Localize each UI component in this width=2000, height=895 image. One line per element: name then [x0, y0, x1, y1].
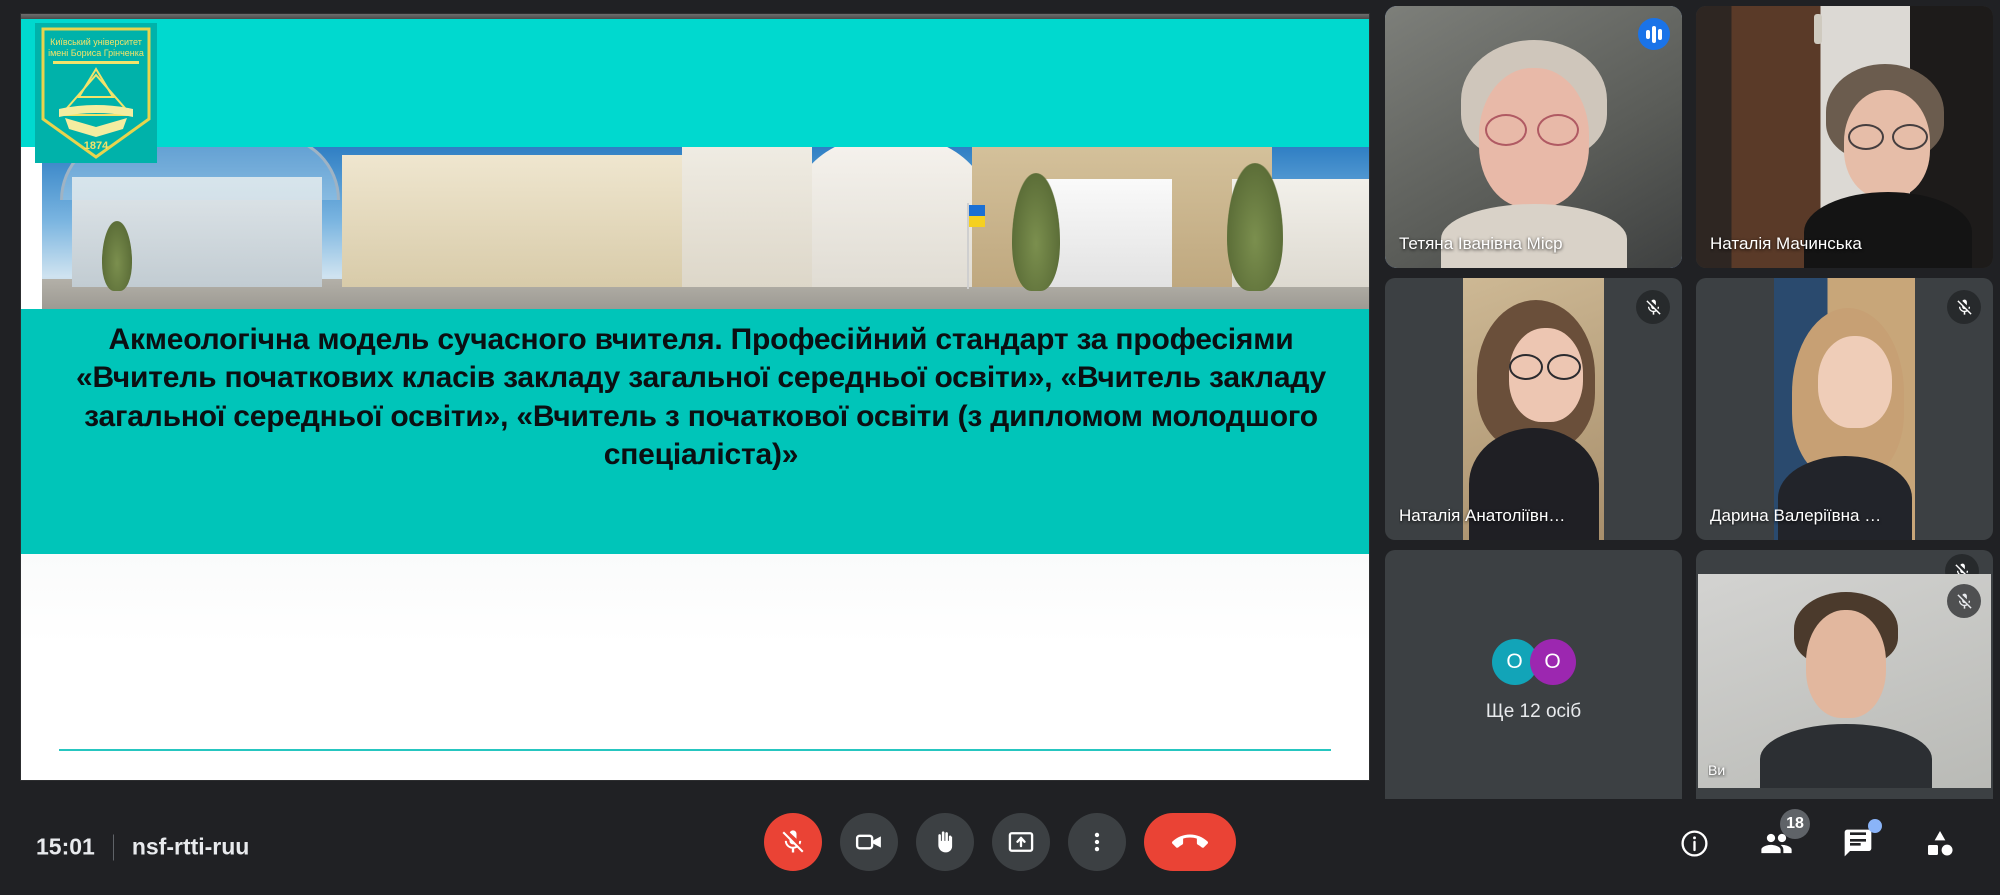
participant-name: Наталія Мачинська [1710, 234, 1949, 254]
hand-icon [931, 828, 959, 856]
mic-off-icon [1636, 290, 1670, 324]
meeting-code: nsf-rtti-ruu [132, 834, 250, 861]
tree [102, 221, 132, 291]
participant-tile-0[interactable]: Тетяна Іванівна Міср [1385, 6, 1682, 268]
crest-icon: Київський університет імені Бориса Грінч… [35, 23, 157, 163]
slide-divider-rule [59, 749, 1331, 751]
meet-app-window: Київський університет імені Бориса Грінч… [0, 0, 2000, 895]
secondary-controls: 18 [1674, 823, 1960, 863]
bottom-control-bar: 15:01 nsf-rtti-ruu [0, 799, 2000, 895]
present-screen-button[interactable] [992, 813, 1050, 871]
slide-title: Акмеологічна модель сучасного вчителя. П… [66, 321, 1336, 475]
video-feed [1463, 278, 1604, 540]
leave-call-button[interactable] [1144, 813, 1236, 871]
avatar: О [1530, 639, 1576, 685]
university-logo: Київський університет імені Бориса Грінч… [35, 23, 157, 163]
video-feed [1385, 6, 1682, 268]
separator [113, 834, 114, 860]
video-feed [1696, 6, 1993, 268]
self-video-feed: Ви [1698, 574, 1991, 788]
more-options-button[interactable] [1068, 813, 1126, 871]
self-view-wrapper: Ви [1696, 550, 1993, 812]
activities-button[interactable] [1920, 823, 1960, 863]
chat-icon [1842, 827, 1874, 859]
crest-line2: імені Бориса Грінченка [48, 48, 144, 58]
clock-time: 15:01 [36, 834, 95, 861]
building-main [342, 155, 702, 287]
more-vertical-icon [1084, 829, 1110, 855]
participant-grid: Тетяна Іванівна Міср Наталія Мачинська [1385, 6, 1993, 791]
chat-notification-dot [1868, 819, 1882, 833]
info-icon [1679, 828, 1710, 859]
activities-icon [1924, 827, 1956, 859]
present-screen-icon [1007, 828, 1035, 856]
hangup-icon [1172, 824, 1208, 860]
show-people-button[interactable]: 18 [1756, 823, 1796, 863]
participant-name: Дарина Валеріївна … [1710, 506, 1949, 526]
meeting-info: 15:01 nsf-rtti-ruu [36, 834, 249, 861]
crest-line1: Київський університет [50, 37, 142, 47]
mic-off-icon [1947, 290, 1981, 324]
participant-name: Наталія Анатоліївн… [1399, 506, 1638, 526]
building-rotunda [786, 147, 996, 287]
campus-photo-banner [42, 147, 1369, 309]
building-portico [1042, 179, 1172, 287]
slide-header-band [21, 19, 1369, 147]
participant-name: Тетяна Іванівна Міср [1399, 234, 1638, 254]
slide-body-area [21, 554, 1369, 780]
meeting-details-button[interactable] [1674, 823, 1714, 863]
presentation-stage[interactable]: Київський університет імені Бориса Грінч… [0, 0, 1370, 800]
self-view-tile[interactable]: Ви [1696, 550, 1993, 812]
chat-button[interactable] [1838, 823, 1878, 863]
video-feed [1774, 278, 1915, 540]
call-controls [764, 813, 1236, 871]
more-participants-tile[interactable]: О О Ще 12 осіб [1385, 550, 1682, 812]
camera-toggle-button[interactable] [840, 813, 898, 871]
tree [1012, 173, 1060, 291]
slide-content: Київський університет імені Бориса Грінч… [21, 19, 1369, 780]
raise-hand-button[interactable] [916, 813, 974, 871]
mic-off-icon [1947, 584, 1981, 618]
shared-screen-window[interactable]: Київський університет імені Бориса Грінч… [21, 14, 1369, 780]
participant-tile-2[interactable]: Наталія Анатоліївн… [1385, 278, 1682, 540]
participant-name: Ви [1708, 762, 1947, 778]
avatar-group: О О [1492, 639, 1576, 685]
mic-off-icon [779, 828, 807, 856]
participant-tile-3[interactable]: Дарина Валеріївна … [1696, 278, 1993, 540]
crest-year: 1874 [84, 140, 109, 152]
tree [1227, 163, 1283, 291]
building-tower [682, 147, 812, 287]
ukraine-flag [969, 205, 985, 227]
participant-tile-1[interactable]: Наталія Мачинська [1696, 6, 1993, 268]
camera-icon [854, 827, 884, 857]
participant-count-badge: 18 [1780, 809, 1810, 839]
microphone-toggle-button[interactable] [764, 813, 822, 871]
speaking-indicator-icon [1638, 18, 1670, 50]
more-participants-label: Ще 12 осіб [1486, 701, 1581, 723]
